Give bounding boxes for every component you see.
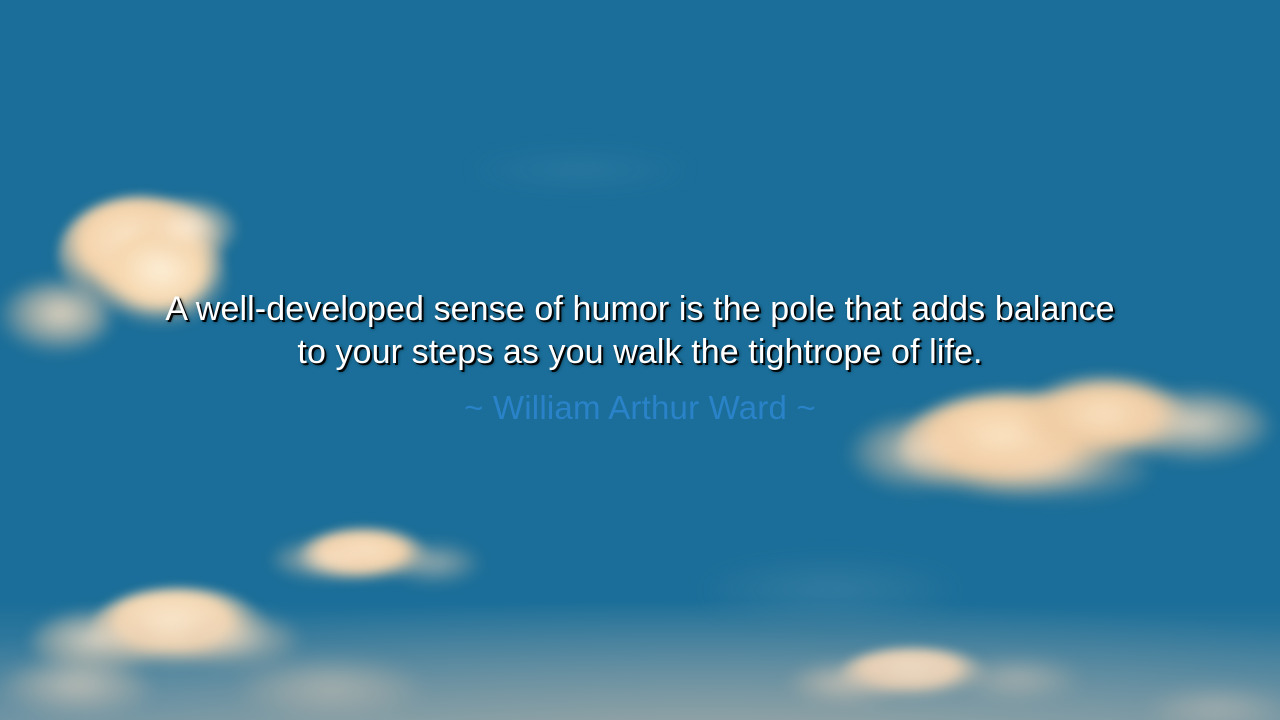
quote-block: A well-developed sense of humor is the p… bbox=[0, 288, 1280, 428]
quote-author: ~ William Arthur Ward ~ bbox=[0, 388, 1280, 428]
quote-text: A well-developed sense of humor is the p… bbox=[0, 288, 1280, 374]
quote-image-canvas: A well-developed sense of humor is the p… bbox=[0, 0, 1280, 720]
horizon-haze-fade bbox=[0, 600, 1280, 720]
